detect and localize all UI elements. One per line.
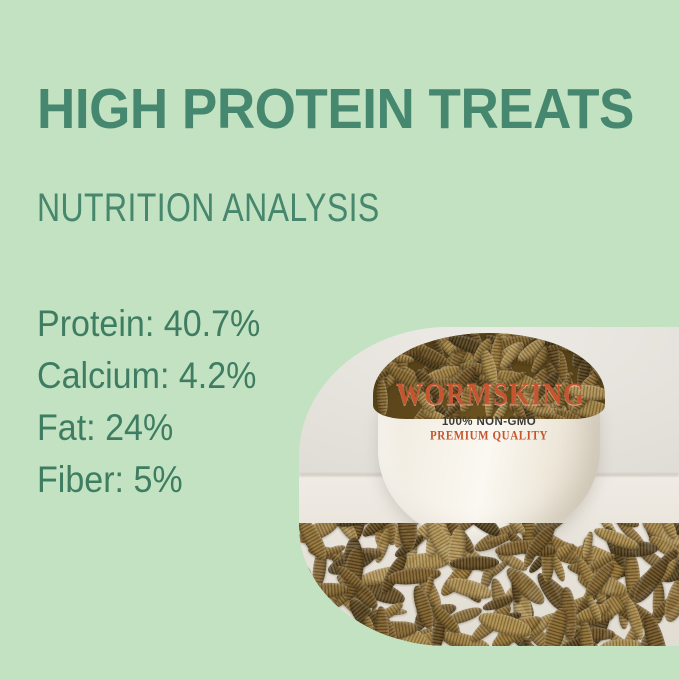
nutrition-item-protein: Protein: 40.7% [37,298,260,350]
larvae-heap [373,333,605,419]
product-infographic: WORMSKING 100% NON-GMO PREMIUM QUALITY H… [0,0,679,679]
nutrition-item-fiber: Fiber: 5% [37,454,260,506]
nutrition-item-calcium: Calcium: 4.2% [37,350,260,402]
nutrition-item-fat: Fat: 24% [37,402,260,454]
page-title: HIGH PROTEIN TREATS [37,76,634,142]
page-subtitle: NUTRITION ANALYSIS [37,186,380,231]
larvae-spill [299,523,679,646]
product-photo: WORMSKING 100% NON-GMO PREMIUM QUALITY [299,327,679,646]
nutrition-list: Protein: 40.7% Calcium: 4.2% Fat: 24% Fi… [37,298,280,506]
